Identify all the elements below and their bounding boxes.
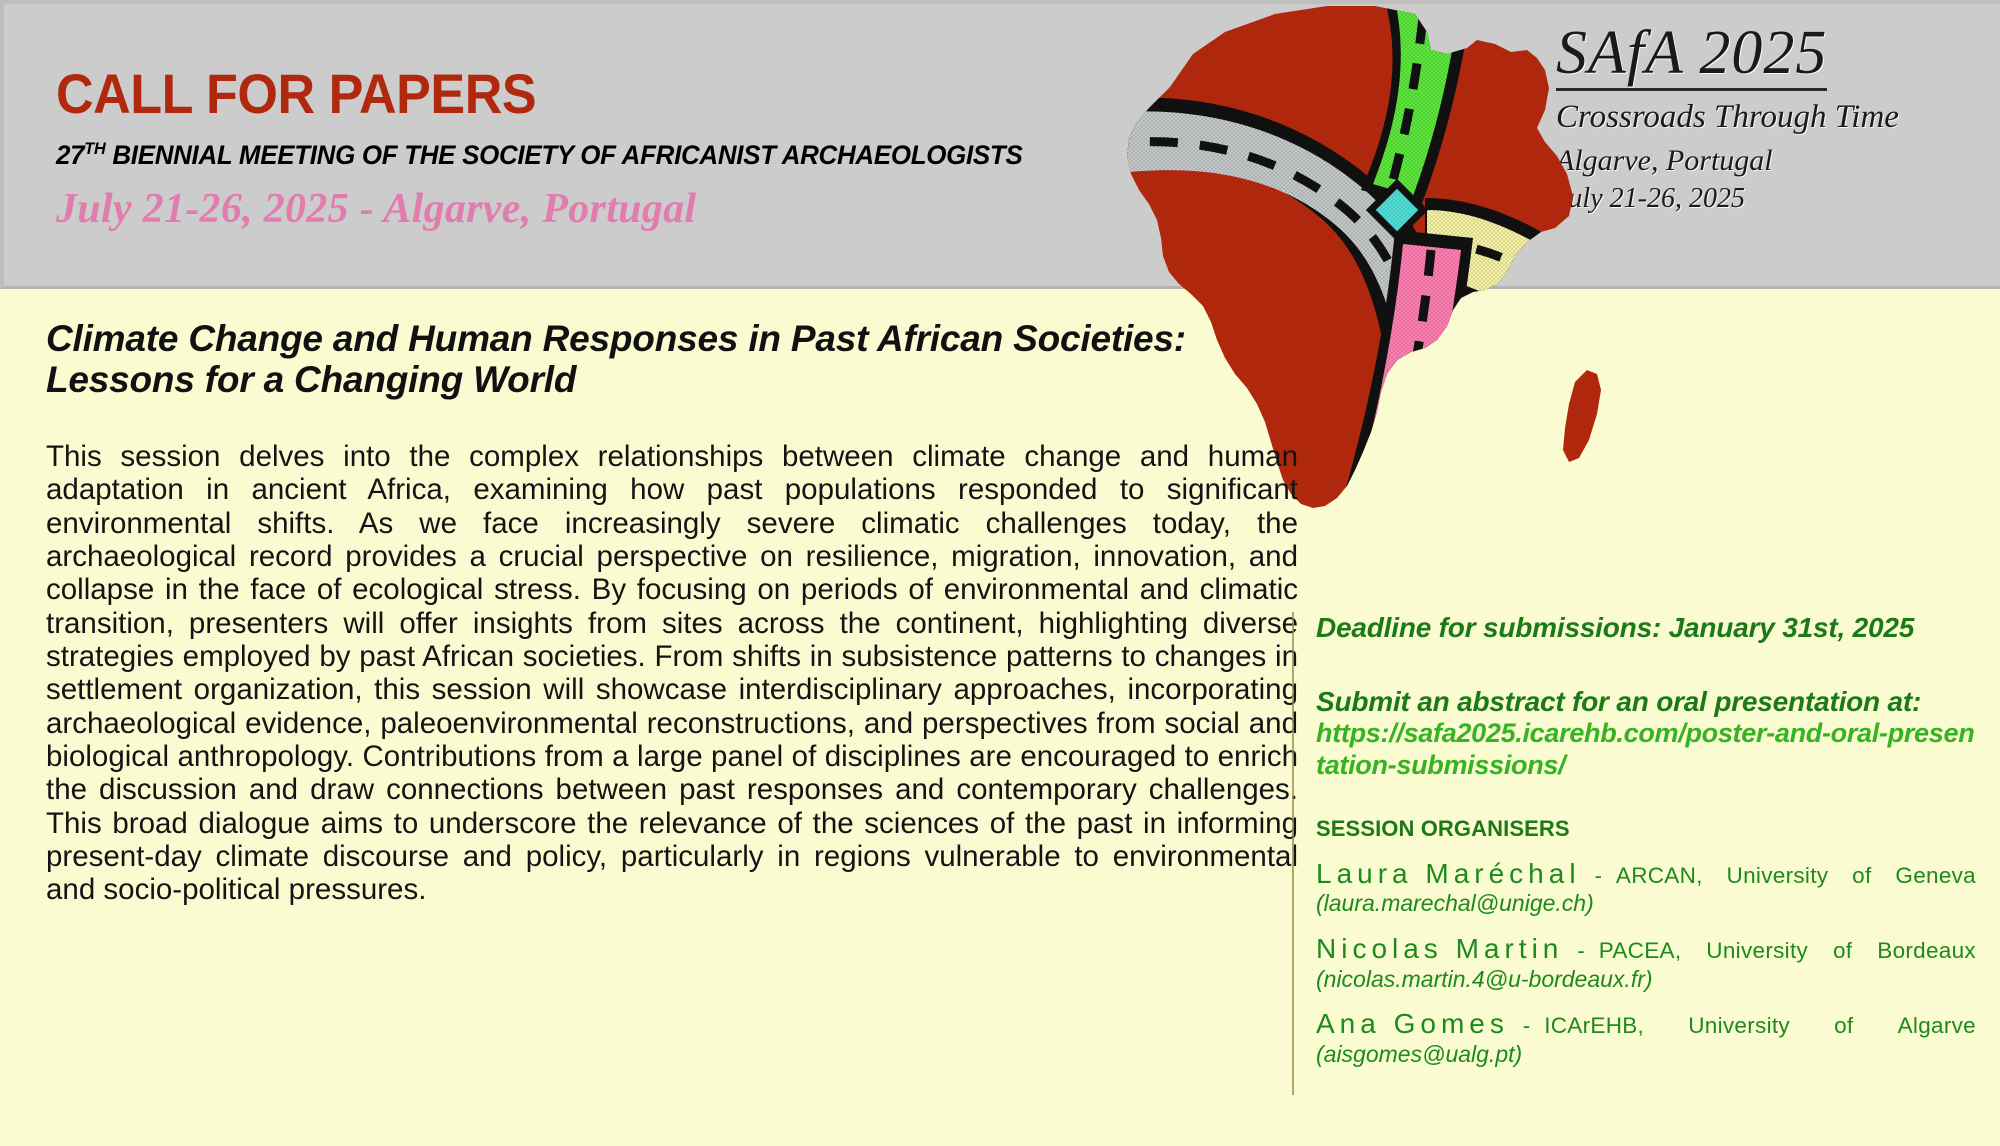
organiser-dash: - [1577, 939, 1584, 963]
affiliation-part: University [1706, 939, 1808, 964]
session-title: Climate Change and Human Responses in Pa… [46, 318, 1306, 401]
organisers-heading: SESSION ORGANISERS [1316, 816, 1976, 842]
header-text-block: CALL FOR PAPERS 27TH BIENNIAL MEETING OF… [56, 66, 1116, 233]
affiliation-part: Bordeaux [1877, 939, 1976, 964]
organiser-line: Ana Gomes - ICArEHB, University of Algar… [1316, 1009, 1976, 1040]
header-date-line: July 21-26, 2025 - Algarve, Portugal [56, 185, 1116, 233]
organiser-affiliation: ARCAN, University of Geneva [1616, 864, 1976, 889]
meeting-number: 27 [56, 140, 84, 170]
meeting-subtitle: 27TH BIENNIAL MEETING OF THE SOCIETY OF … [56, 140, 1074, 171]
organiser-line: Nicolas Martin - PACEA, University of Bo… [1316, 934, 1976, 965]
column-divider [1292, 612, 1294, 1095]
submit-heading: Submit an abstract for an oral presentat… [1316, 686, 1976, 718]
safa-logo-tagline: Crossroads Through Time [1556, 97, 1976, 138]
affiliation-part: ARCAN, [1616, 864, 1703, 889]
affiliation-part: University [1727, 864, 1829, 889]
session-title-line-1: Climate Change and Human Responses in Pa… [46, 318, 1306, 359]
affiliation-part: Geneva [1895, 864, 1976, 889]
organiser-name: Ana Gomes [1316, 1009, 1509, 1040]
organiser-name: Laura Maréchal [1316, 859, 1581, 890]
organiser-email[interactable]: (aisgomes@ualg.pt) [1316, 1041, 1976, 1067]
deadline-text: Deadline for submissions: January 31st, … [1316, 612, 1976, 644]
affiliation-part: of [1833, 939, 1852, 964]
affiliation-part: ICArEHB, [1544, 1014, 1644, 1039]
organiser-entry: Laura Maréchal - ARCAN, University of Ge… [1316, 859, 1976, 917]
affiliation-part: Algarve [1898, 1014, 1976, 1039]
organiser-dash: - [1595, 864, 1602, 888]
affiliation-part: of [1852, 864, 1871, 889]
affiliation-part: University [1688, 1014, 1790, 1039]
organiser-entry: Nicolas Martin - PACEA, University of Bo… [1316, 934, 1976, 992]
safa-logo: SAfA 2025 Crossroads Through Time Algarv… [1556, 22, 1976, 218]
submission-url-link[interactable]: https://safa2025.icarehb.com/poster-and-… [1316, 718, 1976, 781]
meeting-number-ordinal: TH [84, 139, 105, 158]
organiser-line: Laura Maréchal - ARCAN, University of Ge… [1316, 859, 1976, 890]
page-title: CALL FOR PAPERS [56, 66, 1042, 122]
safa-logo-place: Algarve, Portugal [1556, 141, 1976, 180]
meeting-subtitle-text: BIENNIAL MEETING OF THE SOCIETY OF AFRIC… [105, 140, 1022, 170]
organiser-entry: Ana Gomes - ICArEHB, University of Algar… [1316, 1009, 1976, 1067]
affiliation-part: of [1834, 1014, 1853, 1039]
affiliation-part: PACEA, [1599, 939, 1682, 964]
safa-logo-name: SAfA 2025 [1556, 22, 1827, 91]
organiser-email[interactable]: (laura.marechal@unige.ch) [1316, 890, 1976, 916]
submissions-panel: Deadline for submissions: January 31st, … [1316, 612, 1976, 1067]
session-description: This session delves into the complex rel… [46, 440, 1298, 907]
poster-root: CALL FOR PAPERS 27TH BIENNIAL MEETING OF… [0, 0, 2000, 1146]
organiser-email[interactable]: (nicolas.martin.4@u-bordeaux.fr) [1316, 966, 1976, 992]
header-bar: CALL FOR PAPERS 27TH BIENNIAL MEETING OF… [0, 0, 2000, 289]
safa-logo-dates: July 21-26, 2025 [1556, 181, 1976, 217]
organiser-dash: - [1523, 1014, 1530, 1038]
organiser-name: Nicolas Martin [1316, 934, 1563, 965]
organiser-affiliation: PACEA, University of Bordeaux [1599, 939, 1976, 964]
session-title-line-2: Lessons for a Changing World [46, 359, 1306, 400]
organiser-affiliation: ICArEHB, University of Algarve [1544, 1014, 1976, 1039]
